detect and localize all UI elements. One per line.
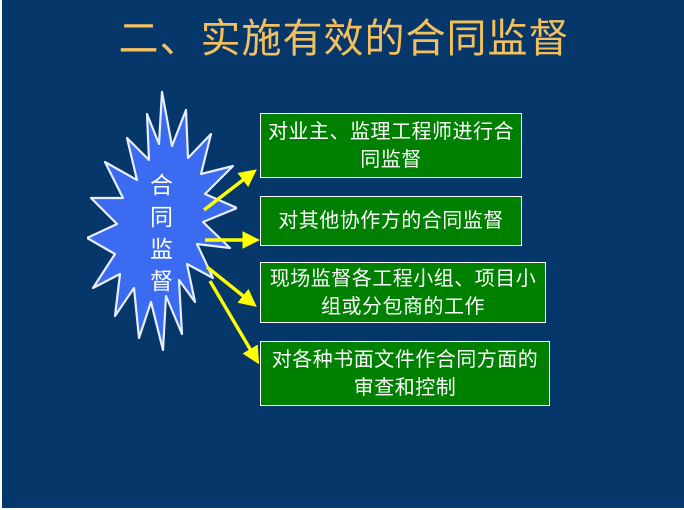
topic-box-3[interactable]: 现场监督各工程小组、项目小组或分包商的工作 — [260, 262, 546, 323]
topic-box-2[interactable]: 对其他协作方的合同监督 — [260, 196, 522, 246]
presentation-slide: 二、实施有效的合同监督 合 同 监 督 对业主、监理工程师进行合同监督 对其他协… — [0, 0, 684, 510]
topic-box-3-label: 现场监督各工程小组、项目小组或分包商的工作 — [267, 265, 539, 321]
topic-box-2-label: 对其他协作方的合同监督 — [267, 207, 515, 235]
topic-box-1[interactable]: 对业主、监理工程师进行合同监督 — [260, 113, 522, 178]
topic-box-4[interactable]: 对各种书面文件作合同方面的审查和控制 — [260, 341, 550, 406]
topic-box-1-label: 对业主、监理工程师进行合同监督 — [267, 118, 515, 174]
page-title: 二、实施有效的合同监督 — [2, 14, 684, 64]
contract-supervision-node[interactable]: 合 同 监 督 — [87, 88, 237, 398]
explosion-star-icon — [87, 88, 237, 398]
topic-box-4-label: 对各种书面文件作合同方面的审查和控制 — [267, 346, 543, 402]
